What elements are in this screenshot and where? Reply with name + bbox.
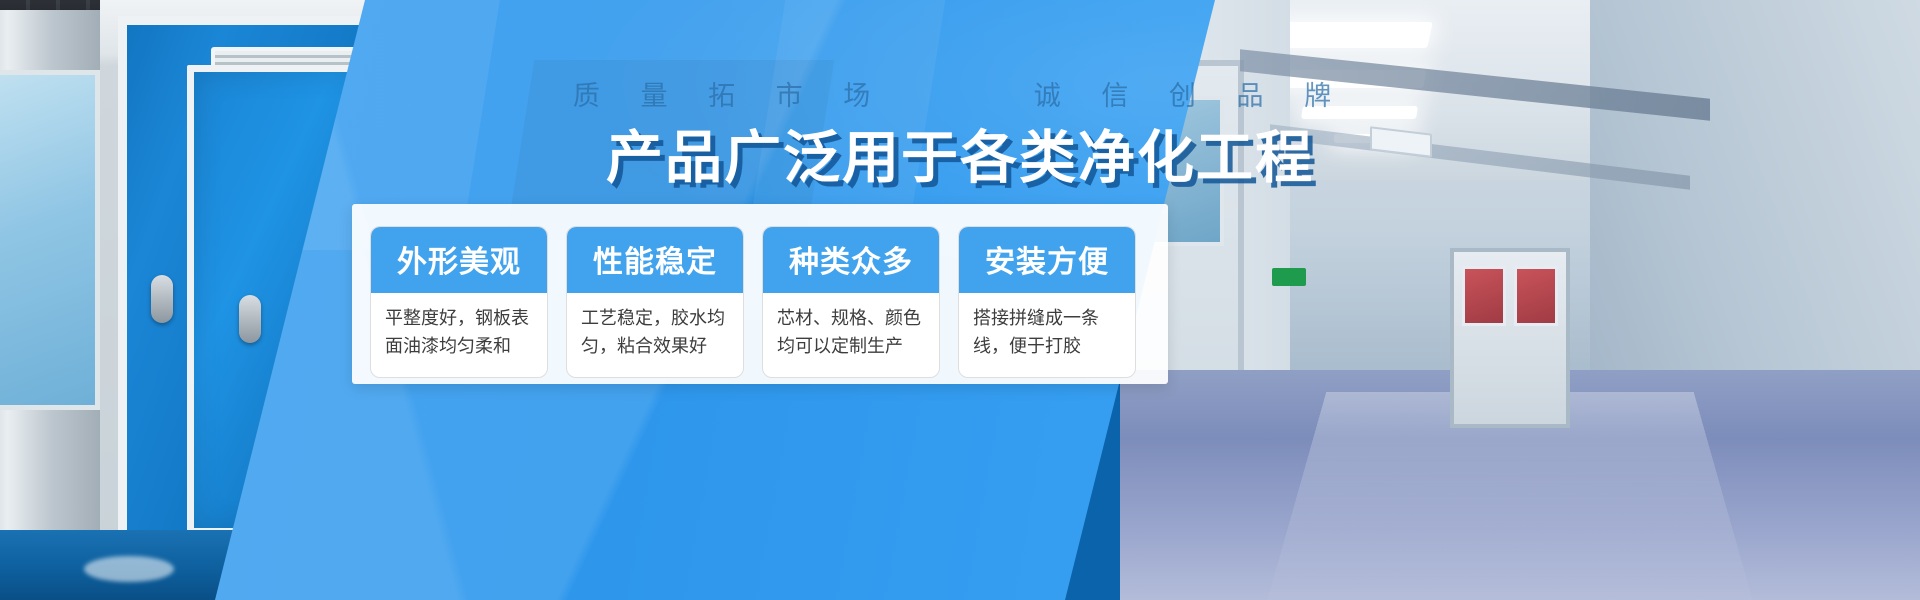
promo-banner: 质 量 拓 市 场 诚 信 创 品 牌 产品广泛用于各类净化工程 外形美观 平整… bbox=[0, 0, 1920, 600]
feature-card-body: 搭接拼缝成一条线，便于打胶 bbox=[959, 293, 1135, 377]
feature-card[interactable]: 种类众多 芯材、规格、颜色均可以定制生产 bbox=[762, 226, 940, 378]
corridor-door-far bbox=[1450, 248, 1570, 428]
banner-headline: 产品广泛用于各类净化工程 bbox=[0, 112, 1920, 194]
feature-cards-panel: 外形美观 平整度好，钢板表面油漆均匀柔和 性能稳定 工艺稳定，胶水均匀，粘合效果… bbox=[352, 204, 1168, 384]
feature-card-title: 性能稳定 bbox=[567, 227, 743, 293]
floor-puddle bbox=[84, 556, 174, 582]
exit-sign-icon bbox=[1272, 268, 1306, 286]
feature-card-body: 芯材、规格、颜色均可以定制生产 bbox=[763, 293, 939, 377]
feature-card-body: 工艺稳定，胶水均匀，粘合效果好 bbox=[567, 293, 743, 377]
feature-card-body: 平整度好，钢板表面油漆均匀柔和 bbox=[371, 293, 547, 377]
feature-card-title: 种类众多 bbox=[763, 227, 939, 293]
door-handle bbox=[151, 275, 173, 323]
feature-card-title: 外形美观 bbox=[371, 227, 547, 293]
banner-subtitle: 质 量 拓 市 场 诚 信 创 品 牌 bbox=[0, 74, 1920, 113]
feature-card[interactable]: 性能稳定 工艺稳定，胶水均匀，粘合效果好 bbox=[566, 226, 744, 378]
door-lock bbox=[239, 295, 261, 343]
feature-card[interactable]: 外形美观 平整度好，钢板表面油漆均匀柔和 bbox=[370, 226, 548, 378]
feature-card-title: 安装方便 bbox=[959, 227, 1135, 293]
feature-card[interactable]: 安装方便 搭接拼缝成一条线，便于打胶 bbox=[958, 226, 1136, 378]
